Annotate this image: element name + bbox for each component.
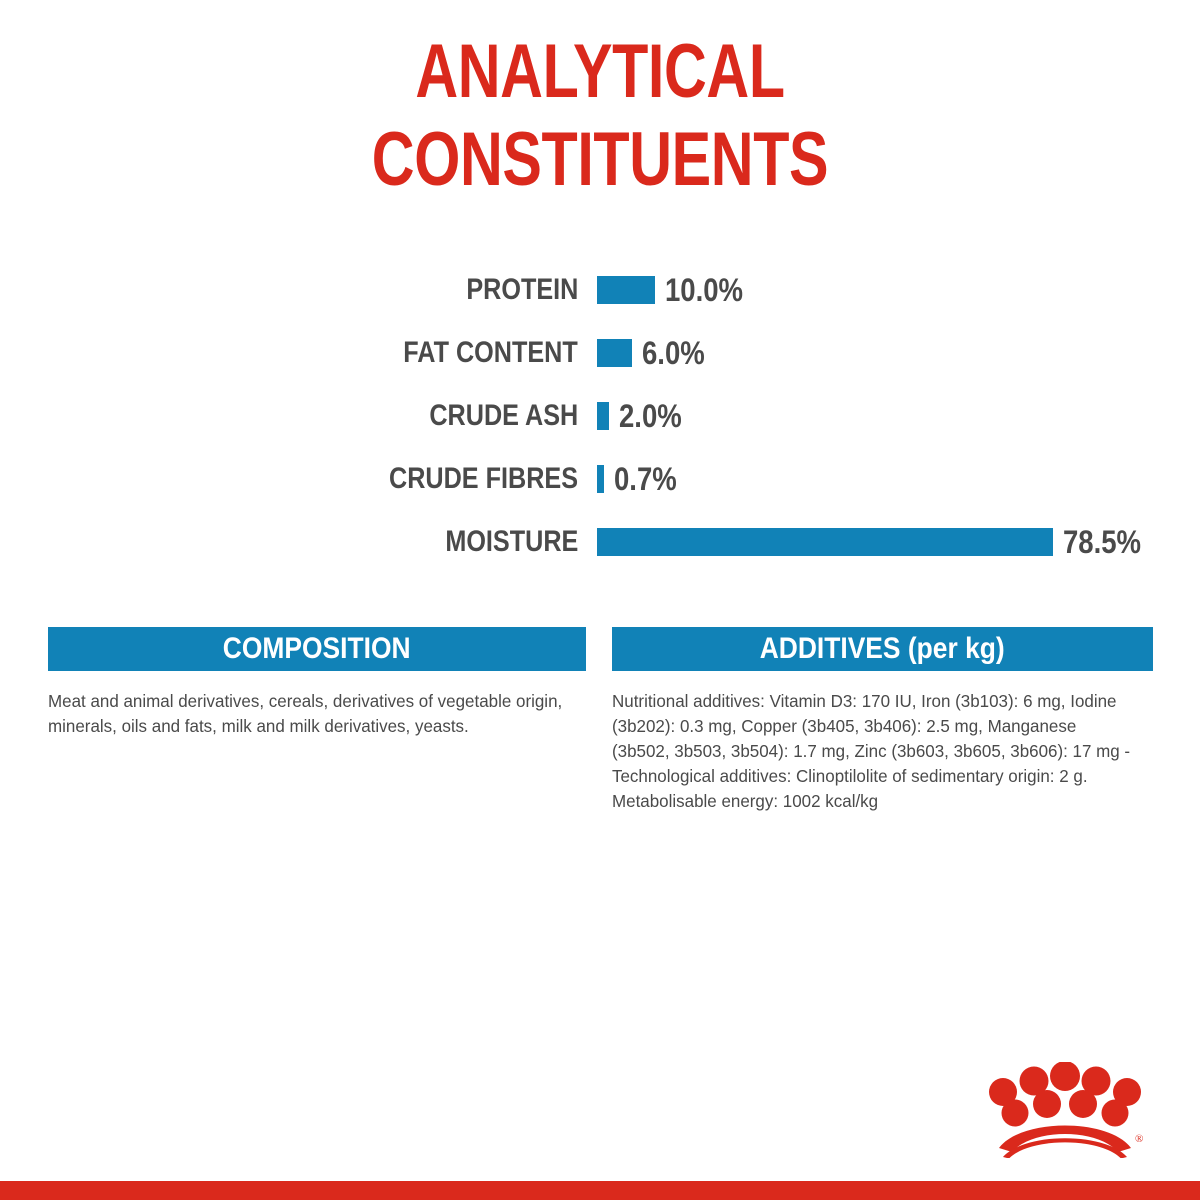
additives-panel-header: ADDITIVES (per kg) <box>612 627 1153 671</box>
bar-value-moisture: 78.5% <box>1063 526 1154 558</box>
composition-panel-header-label: COMPOSITION <box>223 634 411 664</box>
page-title-line-2: CONSTITUENTS <box>132 116 1068 204</box>
bar-value-protein: 10.0% <box>665 274 756 306</box>
bar-track-crude-ash: 2.0% <box>597 402 1200 430</box>
bottom-accent-bar <box>0 1181 1200 1200</box>
bar-track-crude-fibres: 0.7% <box>597 465 1200 493</box>
bar-track-moisture: 78.5% <box>597 528 1200 556</box>
additives-text: Nutritional additives: Vitamin D3: 170 I… <box>612 689 1137 814</box>
page-title-line-1: ANALYTICAL <box>132 28 1068 116</box>
bar-fill-crude-fibres <box>597 465 604 493</box>
bar-row-crude-ash: CRUDE ASH 2.0% <box>0 384 1200 447</box>
bar-value-fat-content: 6.0% <box>642 337 715 369</box>
bar-label-moisture: MOISTURE <box>420 527 578 557</box>
bar-row-moisture: MOISTURE 78.5% <box>0 510 1200 573</box>
bar-label-protein: PROTEIN <box>445 275 578 305</box>
bar-row-fat-content: FAT CONTENT 6.0% <box>0 321 1200 384</box>
bar-fill-moisture <box>597 528 1053 556</box>
analytical-constituents-page: ANALYTICAL CONSTITUENTS PROTEIN 10.0% FA… <box>0 0 1200 1200</box>
bar-fill-protein <box>597 276 655 304</box>
bar-row-crude-fibres: CRUDE FIBRES 0.7% <box>0 447 1200 510</box>
bar-row-protein: PROTEIN 10.0% <box>0 258 1200 321</box>
info-panels: COMPOSITION Meat and animal derivatives,… <box>48 627 1153 814</box>
composition-panel: COMPOSITION Meat and animal derivatives,… <box>48 627 586 814</box>
bar-label-crude-fibres: CRUDE FIBRES <box>353 464 578 494</box>
bar-fill-crude-ash <box>597 402 609 430</box>
composition-text: Meat and animal derivatives, cereals, de… <box>48 689 570 739</box>
analytical-constituents-chart: PROTEIN 10.0% FAT CONTENT 6.0% CRUDE ASH… <box>0 258 1200 573</box>
bar-track-protein: 10.0% <box>597 276 1200 304</box>
bar-fill-fat-content <box>597 339 632 367</box>
composition-panel-header: COMPOSITION <box>48 627 586 671</box>
page-title: ANALYTICAL CONSTITUENTS <box>0 28 1200 204</box>
bar-label-fat-content: FAT CONTENT <box>370 338 578 368</box>
bar-value-crude-ash: 2.0% <box>619 400 692 432</box>
bar-label-crude-ash: CRUDE ASH <box>401 401 578 431</box>
additives-panel-header-label: ADDITIVES (per kg) <box>760 634 1005 664</box>
composition-panel-body: Meat and animal derivatives, cereals, de… <box>48 671 586 739</box>
registered-trademark-mark: ® <box>1135 1133 1143 1145</box>
additives-panel: ADDITIVES (per kg) Nutritional additives… <box>612 627 1153 814</box>
royal-canin-logo: ® <box>985 1062 1145 1158</box>
bar-value-crude-fibres: 0.7% <box>614 463 687 495</box>
additives-panel-body: Nutritional additives: Vitamin D3: 170 I… <box>612 671 1153 814</box>
royal-canin-crown-icon: ® <box>985 1062 1145 1158</box>
bar-track-fat-content: 6.0% <box>597 339 1200 367</box>
